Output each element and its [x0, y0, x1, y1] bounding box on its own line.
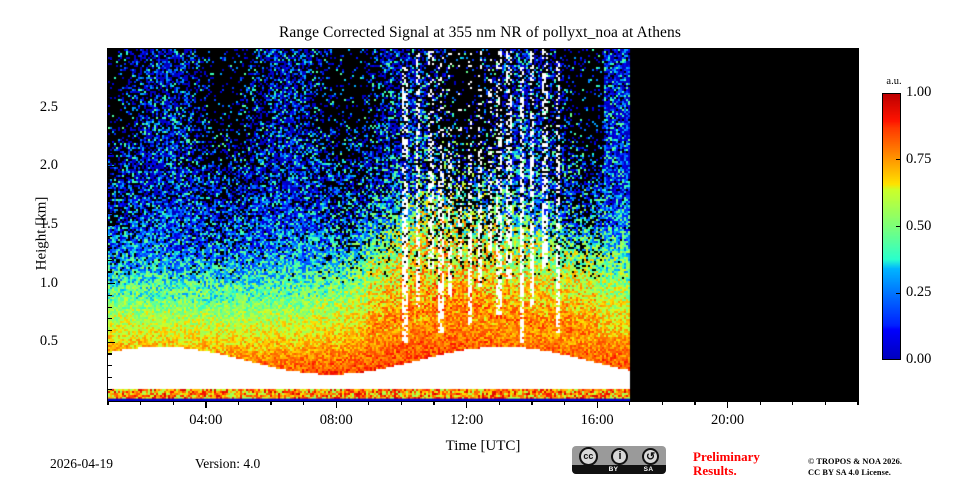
copyright-notice: © TROPOS & NOA 2026. CC BY SA 4.0 Licens…: [808, 457, 958, 478]
copyright-line-2: CC BY SA 4.0 License.: [808, 468, 958, 479]
colorbar-tick-label: 1.00: [906, 84, 960, 101]
colorbar-tick-label: 0.25: [906, 284, 960, 301]
colorbar-tick: [896, 293, 901, 294]
footer-version: Version: 4.0: [195, 456, 260, 472]
footer-date: 2026-04-19: [50, 456, 113, 472]
colorbar-tick-label: 0.50: [906, 218, 960, 235]
colorbar-tick: [896, 159, 901, 160]
cc-sa-icon: ↺: [642, 448, 659, 465]
cc-by-label: BY: [596, 466, 631, 473]
cc-by-icon: i: [611, 448, 628, 465]
lidar-quicklook-figure: Range Corrected Signal at 355 nm NR of p…: [0, 0, 960, 480]
colorbar-tick-label: 0.75: [906, 151, 960, 168]
preliminary-results-note: Preliminary Results.: [693, 450, 798, 478]
colorbar-axis: 0.000.250.500.751.00: [0, 0, 960, 480]
colorbar-tick: [896, 226, 901, 227]
creative-commons-badge[interactable]: cc i ↺ BY SA: [572, 446, 666, 474]
cc-sa-label: SA: [631, 466, 666, 473]
cc-badge-icons: cc i ↺: [572, 446, 666, 466]
cc-badge-captions: BY SA: [572, 465, 666, 474]
preliminary-line-2: Results.: [693, 464, 798, 478]
copyright-line-1: © TROPOS & NOA 2026.: [808, 457, 958, 468]
colorbar-tick-label: 0.00: [906, 351, 960, 368]
preliminary-line-1: Preliminary: [693, 450, 798, 464]
cc-logo-icon: cc: [579, 447, 598, 466]
